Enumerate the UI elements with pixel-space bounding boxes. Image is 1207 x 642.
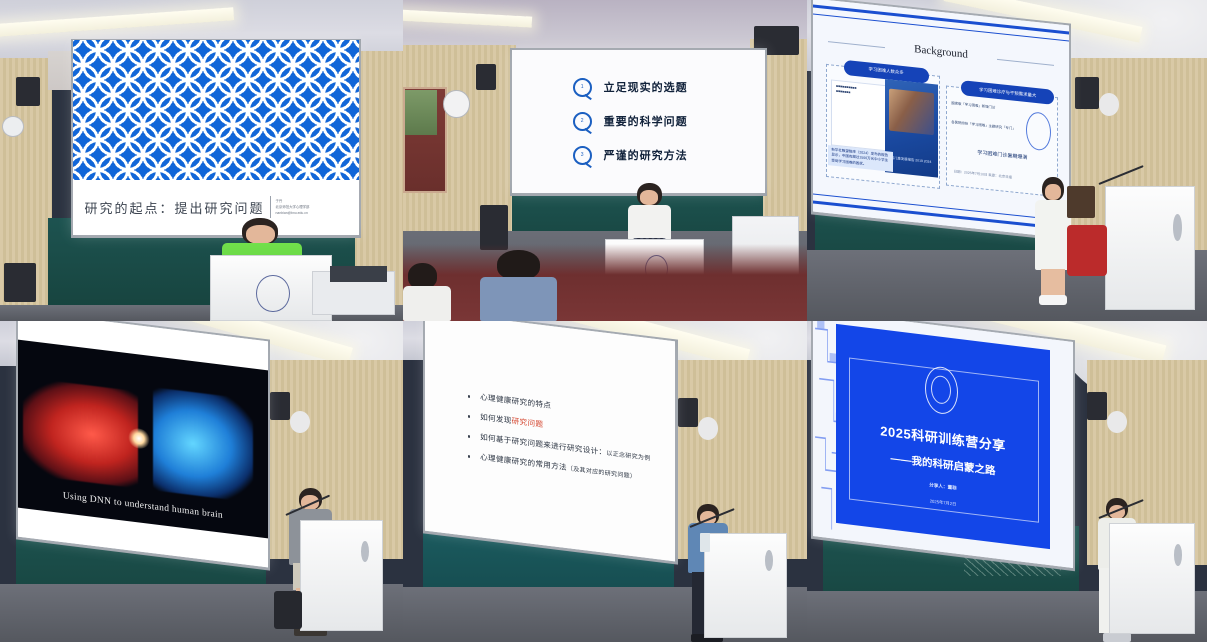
wall-speaker <box>678 398 698 427</box>
presenter-email: nanbian@bnu.edu.cn <box>276 211 310 216</box>
presenter-face <box>1045 184 1061 199</box>
projector-screen: 心理健康研究的特点 如何发现研究问题 如何基于研究问题来进行研究设计：以正念研究… <box>425 321 675 561</box>
wall-clock <box>443 90 469 118</box>
human-hand-graphic <box>153 387 253 503</box>
panel-3-top-right: Background 学习困难人数众多 ■■■■■■■■■■■■■■■■■ 中国… <box>807 0 1207 321</box>
bullet-text: 重要的科学问题 <box>604 113 688 129</box>
podium <box>704 533 787 638</box>
bullet-number: 2 <box>575 114 590 129</box>
security-camera <box>1099 93 1119 115</box>
podium <box>1105 186 1195 310</box>
bullet-number: 3 <box>575 148 590 163</box>
backpack <box>274 591 302 630</box>
slide-panel-5: 心理健康研究的特点 如何发现研究问题 如何基于研究问题来进行研究设计：以正念研究… <box>425 321 675 561</box>
bullet-row: 3 严谨的研究方法 <box>573 146 765 165</box>
bullet-text: 心理健康研究的特点 <box>480 392 551 412</box>
presenter-top <box>628 205 671 240</box>
bullet-row: 1 立足现实的选题 <box>573 78 765 97</box>
projector-screen: 研究的起点：提出研究问题 于丹 北京师范大学心理学部 nanbian@bnu.e… <box>73 40 359 234</box>
bullet-row: 2 重要的科学问题 <box>573 112 765 131</box>
panel-6-bottom-right: 2025科研训练营分享 ——我的科研启蒙之路 分享人：董菲 2025年7月2日 <box>807 321 1207 642</box>
presenter-face <box>246 225 275 243</box>
q-circle-icon: 2 <box>573 112 592 131</box>
slide-title: 研究的起点：提出研究问题 <box>85 198 265 217</box>
podium-handle <box>361 541 369 563</box>
projector-screen: Using DNN to understand human brain <box>18 321 268 568</box>
laptop <box>330 266 386 282</box>
floor-speaker <box>4 263 36 302</box>
panel-2-top-center: 1 立足现实的选题 2 重要的科学问题 3 严谨的研究方法 <box>403 0 807 321</box>
student-shirt <box>480 277 557 321</box>
handbag <box>1067 186 1095 218</box>
student-head <box>497 250 540 280</box>
wall-speaker-left <box>476 64 496 90</box>
student-shirt <box>403 286 451 321</box>
office-chair <box>1067 225 1107 276</box>
slide-panel-4: Using DNN to understand human brain <box>18 321 268 568</box>
slide-panel-6: 2025科研训练营分享 ——我的科研启蒙之路 分享人：董菲 2025年7月2日 <box>813 321 1073 568</box>
wall-speaker <box>1087 392 1107 421</box>
bullet-dot-icon <box>468 415 471 418</box>
photo-collage: 研究的起点：提出研究问题 于丹 北京师范大学心理学部 nanbian@bnu.e… <box>0 0 1207 642</box>
slide-title-row: 研究的起点：提出研究问题 于丹 北京师范大学心理学部 nanbian@bnu.e… <box>73 180 359 234</box>
podium-handle <box>1174 544 1182 566</box>
panel-1-top-left: 研究的起点：提出研究问题 于丹 北京师范大学心理学部 nanbian@bnu.e… <box>0 0 403 321</box>
q-circle-icon: 3 <box>573 146 592 165</box>
slide-background-pattern <box>73 40 359 180</box>
slide-image: Using DNN to understand human brain <box>18 340 268 538</box>
presenter-dress <box>1035 200 1070 271</box>
water-bottle <box>700 533 710 552</box>
wall-speaker <box>16 77 40 106</box>
bullet-text: 严谨的研究方法 <box>604 147 688 163</box>
student-seating <box>403 244 807 321</box>
security-camera <box>698 417 718 439</box>
student-head <box>408 263 437 288</box>
student-person <box>480 250 557 321</box>
title-divider <box>270 196 271 218</box>
podium <box>1109 523 1195 634</box>
bullet-number: 1 <box>575 80 590 95</box>
podium-emblem-icon <box>256 275 289 312</box>
bullet-dot-icon <box>468 455 471 458</box>
slide-panel-2: 1 立足现实的选题 2 重要的科学问题 3 严谨的研究方法 <box>512 50 765 193</box>
presenter-face <box>640 190 658 204</box>
panel-5-bottom-center: 心理健康研究的特点 如何发现研究问题 如何基于研究问题来进行研究设计：以正念研究… <box>403 321 807 642</box>
slide-presenter-block: 于丹 北京师范大学心理学部 nanbian@bnu.edu.cn <box>276 199 310 216</box>
projector-screen: 2025科研训练营分享 ——我的科研启蒙之路 分享人：董菲 2025年7月2日 <box>813 321 1073 568</box>
wall-speaker <box>270 392 290 421</box>
bullet-text: 如何发现研究问题 <box>480 412 543 431</box>
door-window <box>405 90 437 135</box>
panel-4-bottom-left: Using DNN to understand human brain <box>0 321 403 642</box>
bullet-text-small: （及其对应的研究问题） <box>567 467 636 482</box>
presenter-name: 于丹 <box>276 199 310 204</box>
presenter-legs <box>1041 269 1066 297</box>
bullet-text-small: 以正念研究为例 <box>607 451 651 462</box>
robot-hand-graphic <box>23 378 138 489</box>
bullet-text-plain: 如何发现 <box>480 413 512 426</box>
presenter-shoes <box>1103 633 1131 642</box>
bullet-text: 立足现实的选题 <box>604 79 688 95</box>
bullet-text-highlight: 研究问题 <box>512 417 544 430</box>
wall-speaker <box>1075 77 1099 109</box>
podium <box>300 520 383 631</box>
bullet-dot-icon <box>468 435 471 438</box>
student-person <box>403 263 451 321</box>
bullet-text-plain: 心理健康研究的常用方法 <box>480 453 567 473</box>
q-circle-icon: 1 <box>573 78 592 97</box>
wall-clock <box>2 116 24 137</box>
podium-handle <box>765 550 773 571</box>
projector-screen: 1 立足现实的选题 2 重要的科学问题 3 严谨的研究方法 <box>512 50 765 193</box>
slide-panel-1: 研究的起点：提出研究问题 于丹 北京师范大学心理学部 nanbian@bnu.e… <box>73 40 359 234</box>
presenter-shoes <box>1039 295 1067 305</box>
bullet-dot-icon <box>468 395 471 398</box>
podium-handle <box>1173 214 1182 241</box>
presenter-affiliation: 北京师范大学心理学部 <box>276 205 310 210</box>
